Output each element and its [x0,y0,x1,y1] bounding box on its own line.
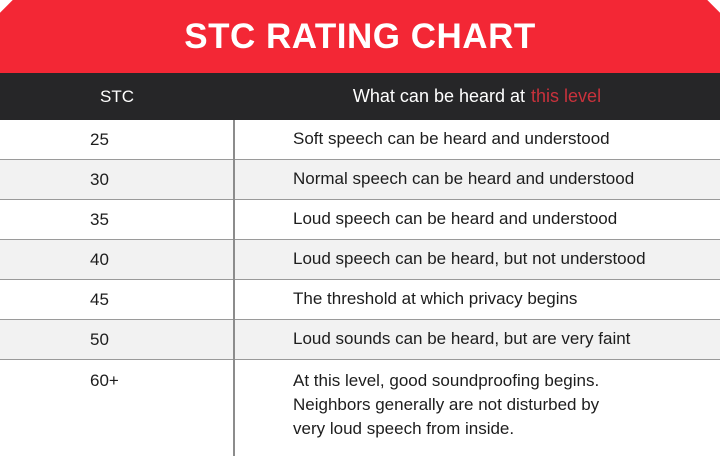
title-banner: STC RATING CHART [0,0,720,73]
column-header-stc: STC [0,73,234,120]
table-row: 40 Loud speech can be heard, but not und… [0,240,720,280]
cell-stc-value: 25 [0,120,234,159]
table-header-row: STC What can be heard at this level [0,73,720,120]
table-row: 60+ At this level, good soundproofing be… [0,360,720,456]
cell-description: Loud speech can be heard and understood [234,200,720,239]
cell-stc-value: 60+ [0,360,234,456]
cell-description: At this level, good soundproofing begins… [234,360,720,456]
cell-stc-value: 45 [0,280,234,319]
cell-description-line: At this level, good soundproofing begins… [293,369,599,393]
column-divider [233,120,235,456]
cell-description: Loud sounds can be heard, but are very f… [234,320,720,359]
corner-notch-right-icon [707,0,720,13]
cell-stc-value: 50 [0,320,234,359]
cell-stc-value: 35 [0,200,234,239]
column-header-description-accent: this level [531,86,601,107]
column-header-description: What can be heard at this level [234,73,720,120]
cell-description: Loud speech can be heard, but not unders… [234,240,720,279]
cell-description-line: Neighbors generally are not disturbed by [293,393,599,417]
cell-stc-value: 40 [0,240,234,279]
cell-description-line: very loud speech from inside. [293,417,599,441]
table-body: 25 Soft speech can be heard and understo… [0,120,720,456]
cell-description: Soft speech can be heard and understood [234,120,720,159]
corner-notch-left-icon [0,0,13,13]
table-row: 30 Normal speech can be heard and unders… [0,160,720,200]
table-row: 50 Loud sounds can be heard, but are ver… [0,320,720,360]
cell-description: Normal speech can be heard and understoo… [234,160,720,199]
table-row: 35 Loud speech can be heard and understo… [0,200,720,240]
table-row: 25 Soft speech can be heard and understo… [0,120,720,160]
cell-stc-value: 30 [0,160,234,199]
stc-rating-chart-page: STC RATING CHART STC What can be heard a… [0,0,720,456]
page-title: STC RATING CHART [184,19,536,54]
table-row: 45 The threshold at which privacy begins [0,280,720,320]
column-header-description-text: What can be heard at [353,86,525,107]
cell-description: The threshold at which privacy begins [234,280,720,319]
